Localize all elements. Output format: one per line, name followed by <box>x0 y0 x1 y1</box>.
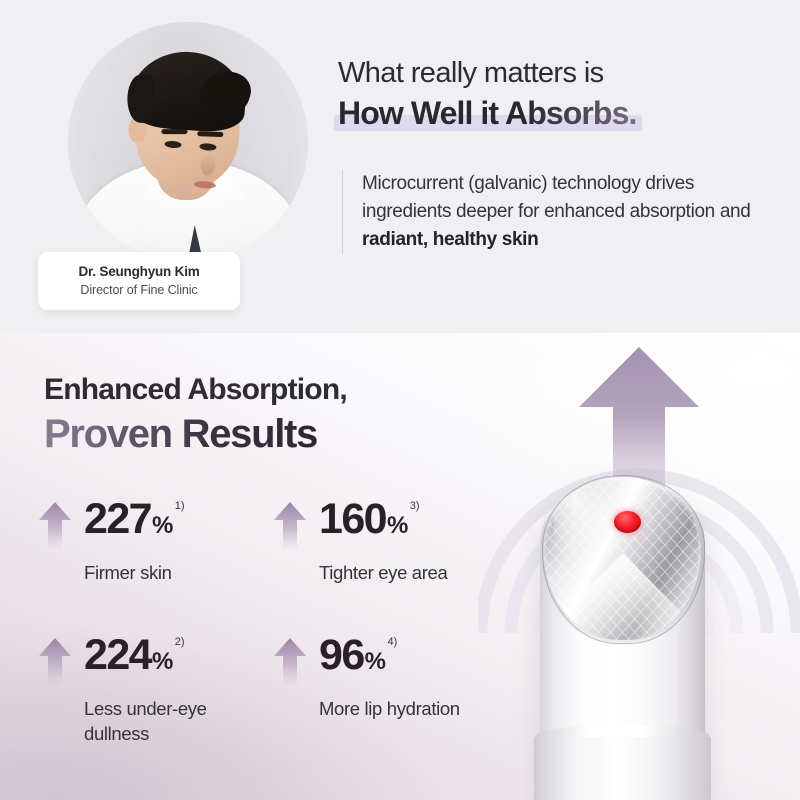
stat-row: 224 % 2) Less under-eye dullness <box>38 634 508 747</box>
stat-value: 160 <box>319 498 386 541</box>
led-indicator-icon <box>614 511 641 533</box>
mouth <box>194 181 216 190</box>
stat-unit: % <box>152 512 173 540</box>
stat-footnote-marker: 1) <box>175 500 185 512</box>
stat-number-wrapper: 96 % 4) <box>319 634 397 677</box>
doctor-portrait-image <box>68 22 308 262</box>
headline-line-1: What really matters is <box>338 56 768 90</box>
stat-label: Less under-eye dullness <box>84 697 264 747</box>
stat-item: 96 % 4) More lip hydration <box>273 634 508 747</box>
eye-right <box>199 143 216 151</box>
bottom-section: Enhanced Absorption, Proven Results 227 <box>0 333 800 800</box>
stats-grid: 227 % 1) Firmer skin <box>38 498 508 747</box>
stat-footnote-marker: 4) <box>387 636 397 648</box>
headline-line-2: How Well it Absorbs. <box>338 94 636 132</box>
infographic-page: Dr. Seunghyun Kim Director of Fine Clini… <box>0 0 800 800</box>
stat-head: 160 % 3) <box>273 498 508 552</box>
stat-unit: % <box>152 648 173 676</box>
stat-number-wrapper: 160 % 3) <box>319 498 420 541</box>
doctor-role: Director of Fine Clinic <box>48 283 230 297</box>
eye-left <box>164 140 181 148</box>
section-title-line-1: Enhanced Absorption, <box>44 373 347 407</box>
stat-unit: % <box>365 648 386 676</box>
section-title-line-2: Proven Results <box>44 412 347 457</box>
section-title: Enhanced Absorption, Proven Results <box>44 373 347 457</box>
top-section: Dr. Seunghyun Kim Director of Fine Clini… <box>0 0 800 333</box>
stat-number-wrapper: 227 % 1) <box>84 498 185 541</box>
device-head-gloss <box>554 483 614 557</box>
stat-value: 224 <box>84 634 151 677</box>
stat-label: More lip hydration <box>319 697 499 722</box>
stat-label: Tighter eye area <box>319 561 499 586</box>
up-arrow-icon <box>273 636 307 688</box>
body-paragraph-regular: Microcurrent (galvanic) technology drive… <box>362 173 750 222</box>
stat-unit: % <box>387 512 408 540</box>
stat-head: 227 % 1) <box>38 498 273 552</box>
device-illustration <box>478 333 800 800</box>
stat-value: 96 <box>319 634 364 677</box>
device-metal-head <box>544 477 701 640</box>
doctor-portrait <box>68 22 308 262</box>
device-base <box>534 737 711 800</box>
nose <box>200 153 216 176</box>
body-paragraph-bold: radiant, healthy skin <box>362 229 538 250</box>
stat-item: 160 % 3) Tighter eye area <box>273 498 508 586</box>
body-text-block: Microcurrent (galvanic) technology drive… <box>342 170 772 254</box>
stat-label: Firmer skin <box>84 561 264 586</box>
stat-number-wrapper: 224 % 2) <box>84 634 185 677</box>
stat-item: 227 % 1) Firmer skin <box>38 498 273 586</box>
headline-block: What really matters is How Well it Absor… <box>338 56 768 133</box>
up-arrow-icon <box>38 636 72 688</box>
doctor-name-card: Dr. Seunghyun Kim Director of Fine Clini… <box>38 252 240 310</box>
stat-footnote-marker: 3) <box>410 500 420 512</box>
up-arrow-icon <box>273 500 307 552</box>
doctor-name: Dr. Seunghyun Kim <box>48 264 230 279</box>
headline-line-2-wrapper: How Well it Absorbs. <box>338 94 636 132</box>
eyebrow-right <box>197 131 223 137</box>
body-paragraph: Microcurrent (galvanic) technology drive… <box>362 170 772 254</box>
stat-head: 224 % 2) <box>38 634 273 688</box>
stat-item: 224 % 2) Less under-eye dullness <box>38 634 273 747</box>
stat-head: 96 % 4) <box>273 634 508 688</box>
stat-footnote-marker: 2) <box>175 636 185 648</box>
stat-value: 227 <box>84 498 151 541</box>
up-arrow-icon <box>38 500 72 552</box>
stat-row: 227 % 1) Firmer skin <box>38 498 508 586</box>
